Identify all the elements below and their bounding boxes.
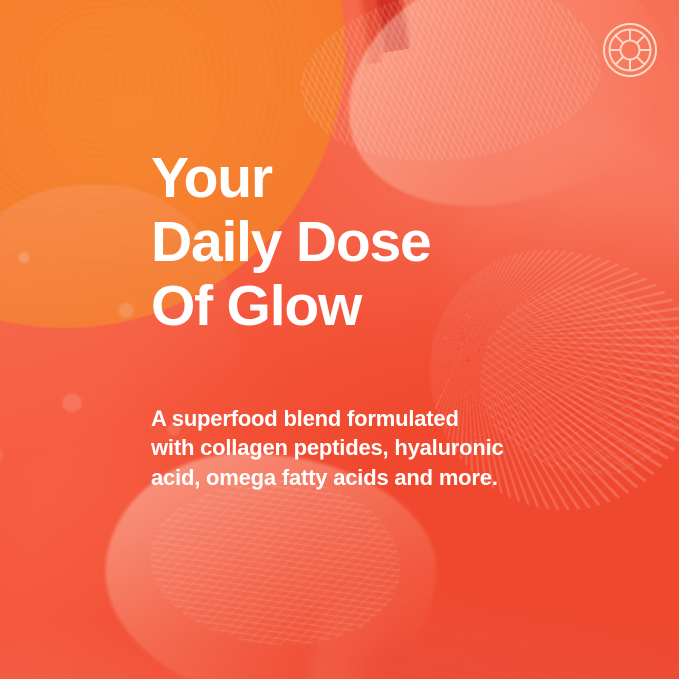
subcopy-line-3: acid, omega fatty acids and more. — [151, 463, 551, 492]
subcopy-line-1: A superfood blend formulated — [151, 404, 551, 433]
headline: Your Daily Dose Of Glow — [151, 147, 571, 338]
headline-line-3: Of Glow — [151, 275, 571, 339]
headline-line-2: Daily Dose — [151, 211, 571, 275]
ad-creative: Your Daily Dose Of Glow A superfood blen… — [0, 0, 679, 679]
headline-line-1: Your — [151, 147, 571, 211]
subcopy-line-2: with collagen peptides, hyaluronic — [151, 433, 551, 462]
background-color-veil — [0, 0, 679, 679]
subcopy: A superfood blend formulated with collag… — [151, 404, 551, 492]
sunburst-wheel-logo — [602, 22, 658, 78]
